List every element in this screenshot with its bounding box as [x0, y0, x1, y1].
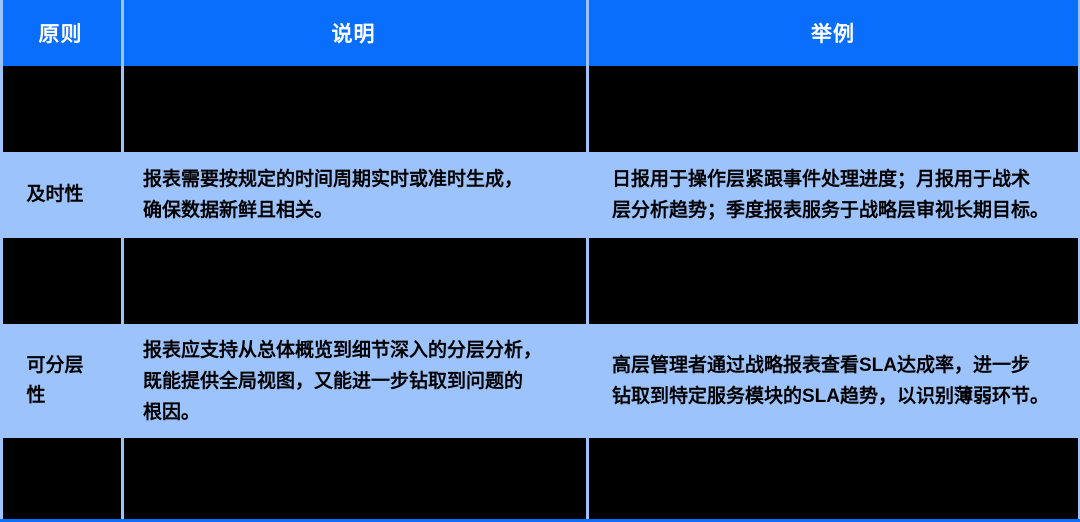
cell-principle: 及时性: [0, 152, 121, 238]
cell-example-text: 高层管理者通过战略报表查看SLA达成率，进一步 钻取到特定服务模块的SLA趋势，…: [612, 350, 1049, 412]
cell-description: 报表需要按规定的时间周期实时或准时生成， 确保数据新鲜且相关。: [121, 152, 586, 238]
table-row: 及时性 报表需要按规定的时间周期实时或准时生成， 确保数据新鲜且相关。 日报用于…: [0, 152, 1080, 238]
table-row: [0, 238, 1080, 324]
column-header-example-label: 举例: [811, 18, 855, 48]
column-header-description-label: 说明: [332, 18, 376, 48]
cell-example: [586, 438, 1080, 519]
table-border-left: [0, 0, 3, 519]
cell-principle-text: 及时性: [27, 180, 95, 210]
cell-principle: [0, 438, 121, 519]
cell-example: [586, 238, 1080, 324]
cell-principle: [0, 66, 121, 152]
cell-example: 高层管理者通过战略报表查看SLA达成率，进一步 钻取到特定服务模块的SLA趋势，…: [586, 324, 1080, 438]
cell-example: 日报用于操作层紧跟事件处理进度；月报用于战术 层分析趋势；季度报表服务于战略层审…: [586, 152, 1080, 238]
cell-description: 报表应支持从总体概览到细节深入的分层分析， 既能提供全局视图，又能进一步钻取到问…: [121, 324, 586, 438]
column-header-description: 说明: [121, 0, 586, 66]
cell-principle-text: 可分层性: [27, 351, 95, 411]
cell-example-text: 日报用于操作层紧跟事件处理进度；月报用于战术 层分析趋势；季度报表服务于战略层审…: [612, 164, 1049, 226]
cell-description: [121, 66, 586, 152]
cell-principle: 可分层性: [0, 324, 121, 438]
table-header-row: 原则 说明 举例: [0, 0, 1080, 66]
cell-description-text: 报表应支持从总体概览到细节深入的分层分析， 既能提供全局视图，又能进一步钻取到问…: [143, 335, 542, 428]
column-header-example: 举例: [586, 0, 1080, 66]
cell-description: [121, 238, 586, 324]
cell-principle: [0, 238, 121, 324]
cell-description-text: 报表需要按规定的时间周期实时或准时生成， 确保数据新鲜且相关。: [143, 164, 523, 226]
column-header-principle-label: 原则: [39, 18, 83, 48]
cell-description: [121, 438, 586, 519]
table-row: 可分层性 报表应支持从总体概览到细节深入的分层分析， 既能提供全局视图，又能进一…: [0, 324, 1080, 438]
cell-example: [586, 66, 1080, 152]
column-header-principle: 原则: [0, 0, 121, 66]
column-divider-1: [121, 0, 124, 519]
principles-table: 原则 说明 举例 及时性 报表需要按规定的时间周期实时或准时生成， 确保数据新鲜…: [0, 0, 1080, 522]
table-row: [0, 66, 1080, 152]
column-divider-2: [586, 0, 589, 519]
table-row: [0, 438, 1080, 519]
